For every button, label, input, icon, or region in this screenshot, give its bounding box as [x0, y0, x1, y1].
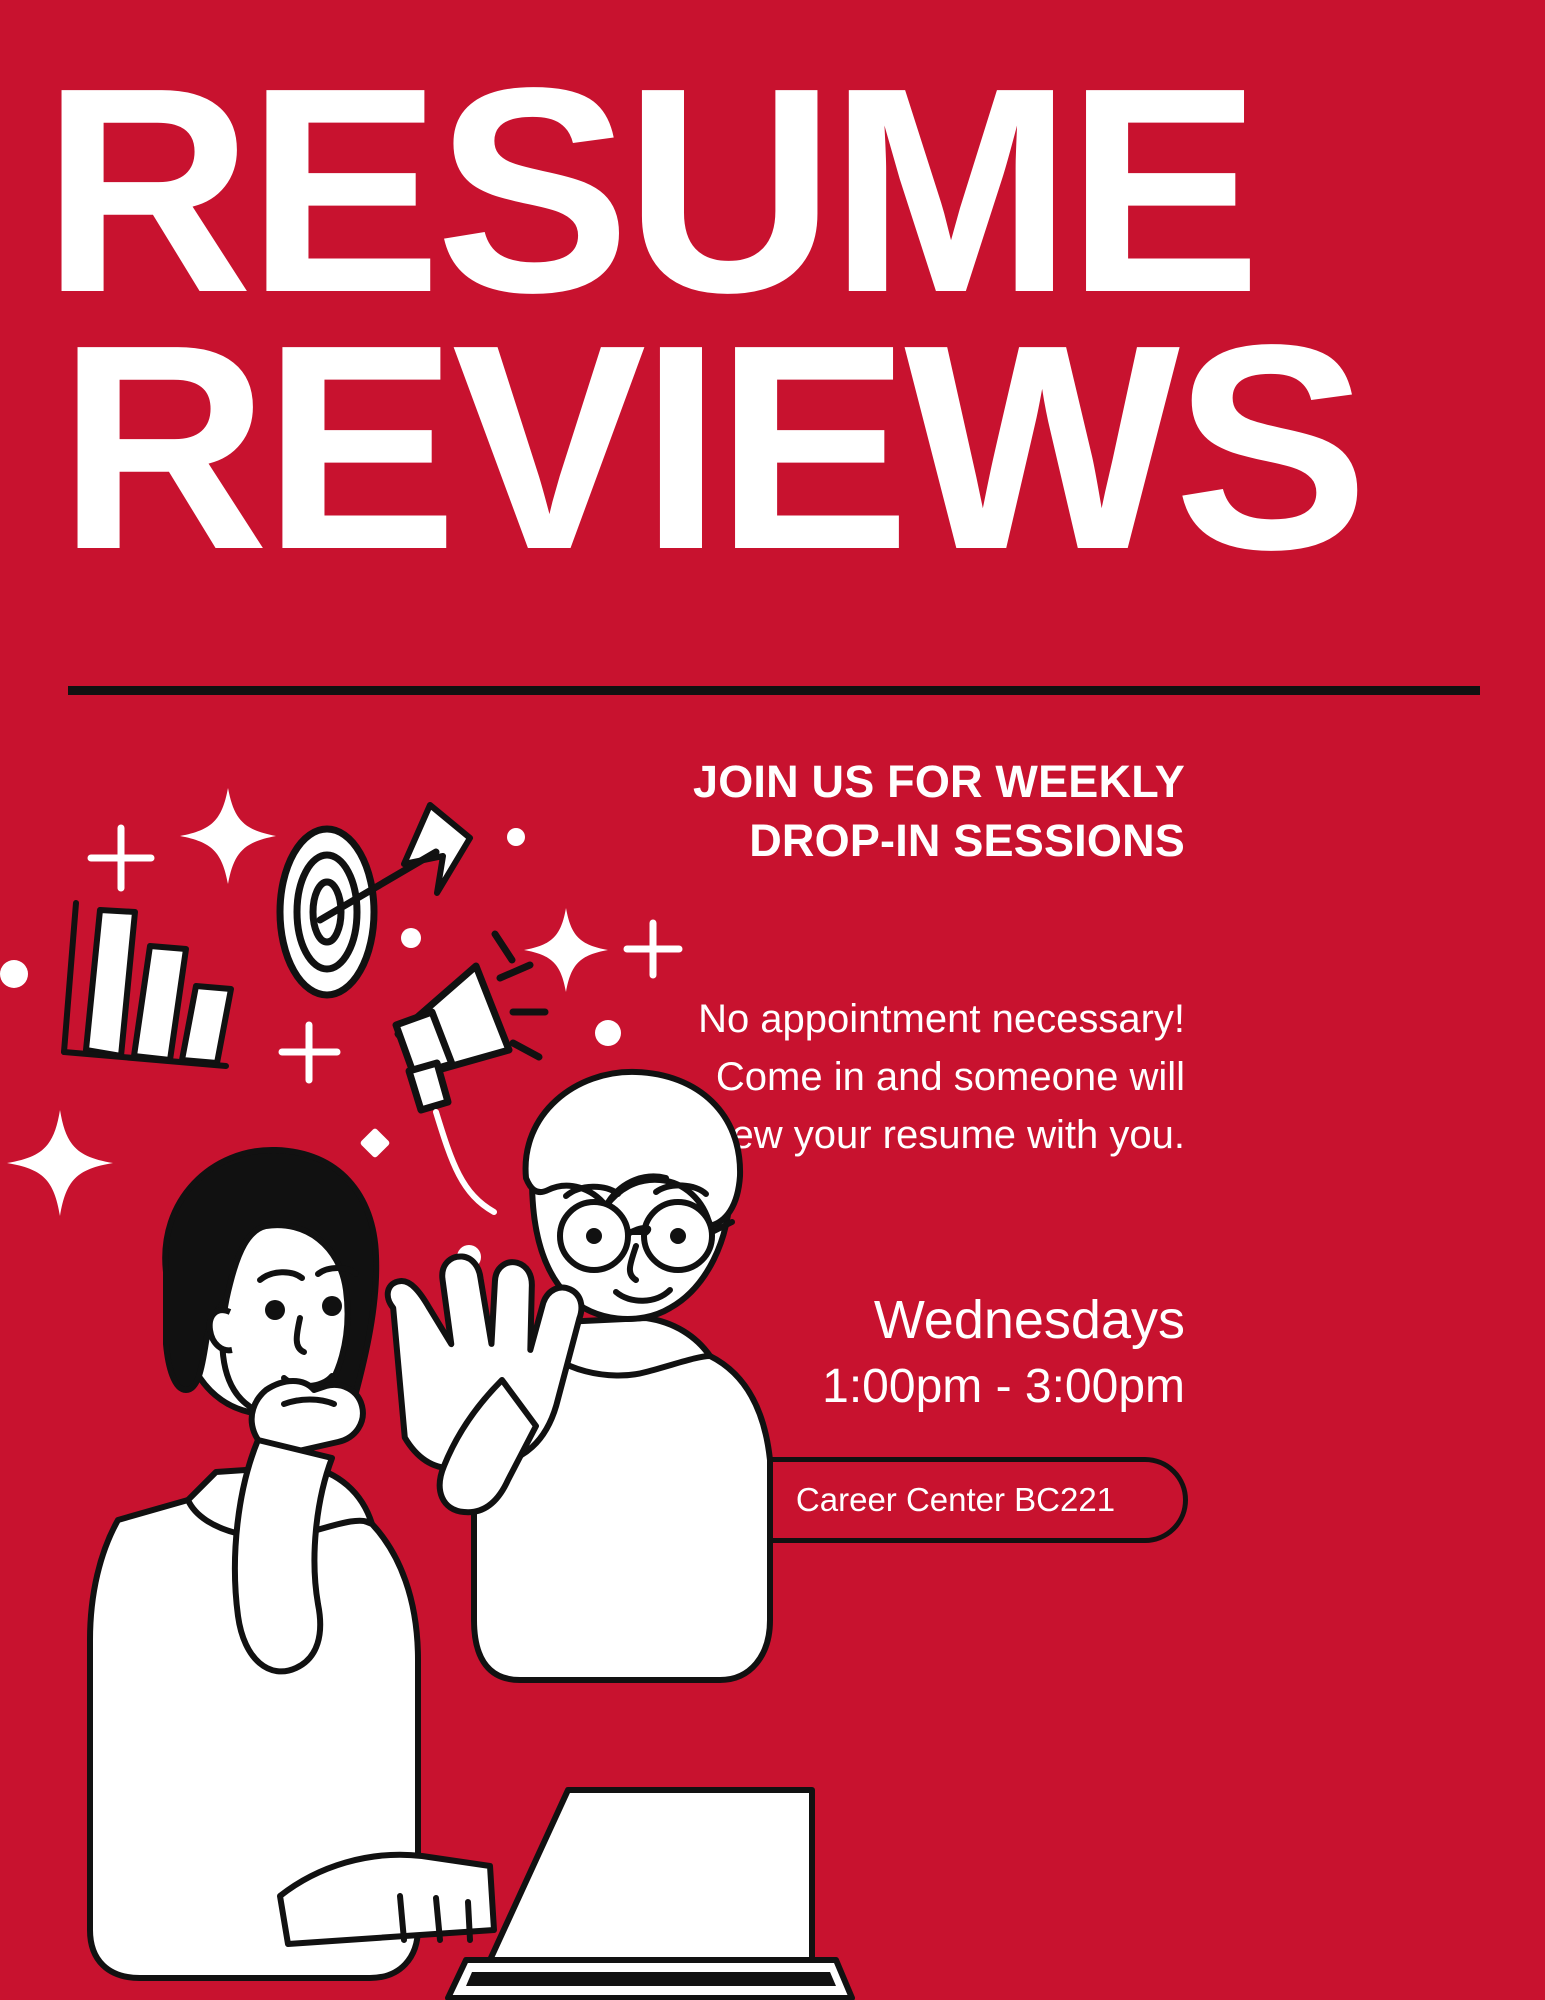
plus-icon — [627, 923, 679, 975]
arrow-shaft-icon — [320, 852, 436, 920]
title-divider-rule — [68, 686, 1480, 695]
plus-icon — [91, 828, 151, 888]
title-line-1: RESUME — [42, 62, 1503, 319]
title-line-2: REVIEWS — [58, 319, 1503, 576]
dot-icon — [507, 828, 525, 846]
bar-chart-axis — [64, 903, 226, 1066]
laptop-icon — [448, 1790, 852, 1998]
sparkle-icon — [524, 908, 608, 992]
page-title: RESUME REVIEWS — [0, 62, 1545, 576]
subheading-line-1: JOIN US FOR WEEKLY — [560, 752, 1185, 811]
subheading: JOIN US FOR WEEKLY DROP-IN SESSIONS — [560, 752, 1185, 871]
person-right — [385, 1072, 770, 1680]
body-line-1: No appointment necessary! — [520, 990, 1185, 1048]
arrow-icon — [404, 805, 470, 893]
poster-canvas: RESUME REVIEWS JOIN US FOR WEEKLY DROP-I… — [0, 0, 1545, 2000]
two-people-with-laptop-illustration — [70, 1060, 900, 2000]
bar-chart-icon — [86, 910, 231, 1063]
dot-icon — [0, 960, 28, 988]
sparkle-icon — [180, 788, 276, 884]
person-left — [90, 1150, 494, 1978]
dot-icon — [401, 928, 421, 948]
target-icon — [280, 829, 374, 995]
target-icon-rings — [297, 855, 357, 969]
subheading-line-2: DROP-IN SESSIONS — [560, 811, 1185, 870]
